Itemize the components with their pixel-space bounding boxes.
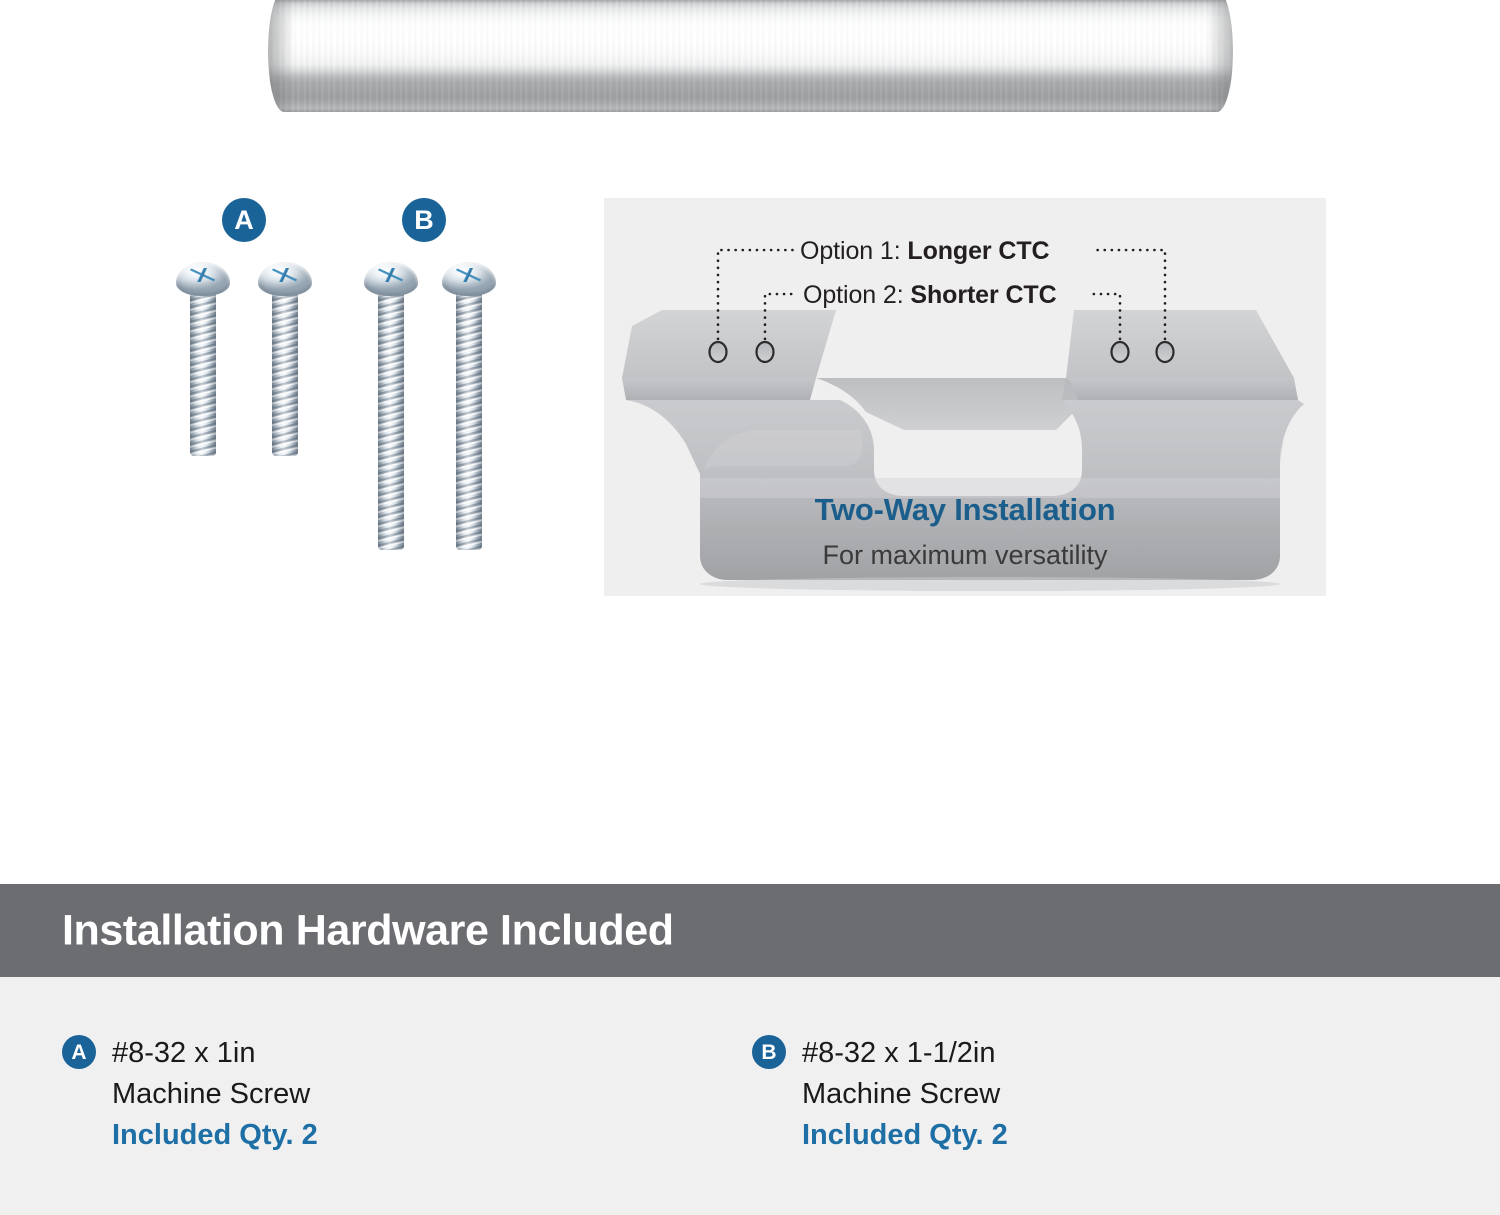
hardware-item-a-qty: Included Qty. 2 [112,1115,318,1156]
hardware-item-b-text: #8-32 x 1-1/2in Machine Screw Included Q… [802,1033,1008,1156]
hardware-item-a-text: #8-32 x 1in Machine Screw Included Qty. … [112,1033,318,1156]
screw-head [442,262,496,296]
hardware-item-a-badge: A [62,1035,96,1069]
screw-head [176,262,230,296]
option-1-prefix: Option 1: [800,237,907,265]
mounting-holes [710,342,1174,362]
option-2-label: Option 2: Shorter CTC [803,281,1057,310]
screw-head [258,262,312,296]
hardware-item-b-type: Machine Screw [802,1074,1008,1115]
hardware-header-bar: Installation Hardware Included [0,884,1500,977]
option-1-value: Longer CTC [907,237,1049,265]
screw-head [364,262,418,296]
hardware-item-b-badge: B [752,1035,786,1069]
screw-group-b-badge: B [402,198,446,242]
screw-shank [456,292,482,550]
hardware-list-section: A #8-32 x 1in Machine Screw Included Qty… [0,977,1500,1215]
hardware-item-b: B #8-32 x 1-1/2in Machine Screw Included… [752,1033,1008,1156]
hardware-item-b-spec: #8-32 x 1-1/2in [802,1033,1008,1074]
option-2-value: Shorter CTC [910,281,1056,309]
panel-subtext: For maximum versatility [604,540,1326,571]
two-way-installation-panel: Option 1: Longer CTC Option 2: Shorter C… [604,198,1326,596]
hardware-item-a-type: Machine Screw [112,1074,318,1115]
panel-headline: Two-Way Installation [604,492,1326,528]
hardware-item-a-spec: #8-32 x 1in [112,1033,318,1074]
hardware-header-title: Installation Hardware Included [62,906,674,955]
screw-group-a-badge: A [222,198,266,242]
screw-shank [378,292,404,550]
pull-bar-body [268,0,1233,112]
option-1-label: Option 1: Longer CTC [800,237,1049,266]
hardware-item-b-qty: Included Qty. 2 [802,1115,1008,1156]
hardware-item-a: A #8-32 x 1in Machine Screw Included Qty… [62,1033,318,1156]
option-2-prefix: Option 2: [803,281,910,309]
screw-shank [272,292,298,456]
screw-shank [190,292,216,456]
product-pull-bar [268,0,1233,112]
metal-sheen [268,0,1233,112]
